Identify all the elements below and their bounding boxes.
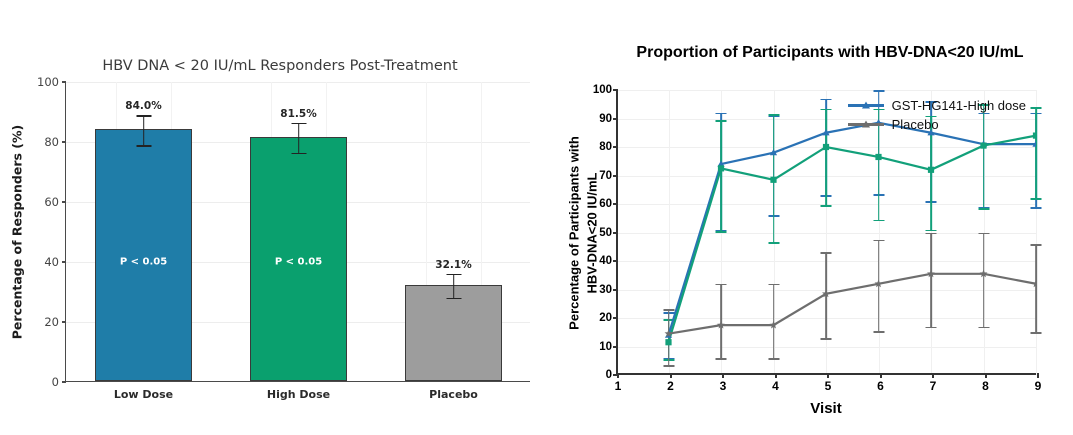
line-chart-y-tick-label: 20 xyxy=(599,312,612,324)
line-chart-y-tick-label: 80 xyxy=(599,141,612,153)
line-chart-x-tick-mark xyxy=(775,373,777,378)
line-chart-axes: 0102030405060708090100123456789 xyxy=(616,90,1036,375)
line-chart-y-axis-label-line1: Percentage of Participants with xyxy=(567,123,582,343)
line-chart-y-axis-label-line2: HBV-DNA<20 IU/mL xyxy=(585,123,600,343)
figure-root: HBV DNA < 20 IU/mL Responders Post-Treat… xyxy=(0,0,1073,435)
line-chart-x-tick-label: 5 xyxy=(825,379,832,393)
line-chart-y-tick-mark xyxy=(613,203,618,205)
line-chart-y-tick-label: 90 xyxy=(599,113,612,125)
bar-chart-y-axis-label-text: Percentage of Responders (%) xyxy=(10,125,25,339)
bar-chart-y-tick-mark xyxy=(62,141,66,142)
bar-chart-error-cap xyxy=(136,145,151,147)
bar-chart-y-tick-mark xyxy=(62,321,66,322)
line-chart-y-tick-label: 10 xyxy=(599,341,612,353)
line-chart-title: Proportion of Participants with HBV-DNA<… xyxy=(585,44,1073,62)
bar-chart-gridline xyxy=(66,82,530,83)
line-chart-x-tick-label: 6 xyxy=(877,379,884,393)
bar-chart-error-bar xyxy=(143,115,145,145)
bar-chart-y-tick-label: 40 xyxy=(44,255,59,269)
bar-chart-x-tick-label: Placebo xyxy=(429,388,478,401)
bar-chart-y-tick-label: 80 xyxy=(44,135,59,149)
bar-chart-y-axis-label: Percentage of Responders (%) xyxy=(8,82,26,382)
bar-chart-pvalue-annotation: P < 0.05 xyxy=(120,257,167,268)
line-chart-y-tick-mark xyxy=(613,175,618,177)
line-chart-x-axis-label: Visit xyxy=(616,400,1036,417)
line-chart-x-tick-mark xyxy=(722,373,724,378)
line-chart-y-tick-mark xyxy=(613,89,618,91)
bar-chart-plot-area: 02040608010084.0%P < 0.05Low Dose81.5%P … xyxy=(65,82,530,382)
line-chart-x-tick-mark xyxy=(670,373,672,378)
bar-chart-error-bar xyxy=(453,274,455,298)
line-chart-y-tick-label: 50 xyxy=(599,227,612,239)
line-chart-y-tick-label: 70 xyxy=(599,170,612,182)
line-chart-x-tick-label: 2 xyxy=(667,379,674,393)
bar-chart-x-tick-label: Low Dose xyxy=(114,388,173,401)
bar-chart-y-tick-mark xyxy=(62,201,66,202)
line-chart-x-tick-mark xyxy=(617,373,619,378)
line-chart-y-tick-mark xyxy=(613,118,618,120)
line-chart-panel: Proportion of Participants with HBV-DNA<… xyxy=(540,0,1073,435)
bar-chart-error-cap xyxy=(446,274,461,276)
bar-chart-error-bar xyxy=(298,123,300,153)
bar-chart-y-tick-mark xyxy=(62,261,66,262)
line-chart-x-tick-label: 9 xyxy=(1035,379,1042,393)
line-chart-y-tick-mark xyxy=(613,346,618,348)
bar-chart-y-tick-label: 100 xyxy=(37,75,59,89)
line-chart-y-tick-label: 40 xyxy=(599,255,612,267)
line-chart-y-tick-label: 60 xyxy=(599,198,612,210)
line-chart-x-tick-mark xyxy=(827,373,829,378)
bar-chart-error-cap xyxy=(291,153,306,155)
line-chart-y-tick-mark xyxy=(613,146,618,148)
line-chart-y-tick-label: 30 xyxy=(599,284,612,296)
bar-chart-title: HBV DNA < 20 IU/mL Responders Post-Treat… xyxy=(0,58,560,74)
bar-chart-error-cap xyxy=(446,298,461,300)
line-chart-x-tick-mark xyxy=(932,373,934,378)
line-chart-x-tick-mark xyxy=(880,373,882,378)
bar-chart-y-tick-mark xyxy=(62,381,66,382)
line-chart-y-tick-mark xyxy=(613,260,618,262)
line-chart-x-tick-label: 1 xyxy=(615,379,622,393)
line-chart-y-tick-label: 0 xyxy=(606,369,612,381)
bar-chart-y-tick-label: 20 xyxy=(44,315,59,329)
line-chart-x-tick-label: 8 xyxy=(982,379,989,393)
line-chart-y-tick-label: 100 xyxy=(593,84,612,96)
bar-chart-error-cap xyxy=(136,115,151,117)
bar-chart-y-tick-label: 0 xyxy=(52,375,59,389)
line-chart-y-tick-mark xyxy=(613,317,618,319)
line-chart-x-tick-mark xyxy=(985,373,987,378)
bar-chart-pvalue-annotation: P < 0.05 xyxy=(275,257,322,268)
line-chart-x-tick-label: 7 xyxy=(930,379,937,393)
line-chart-y-axis-label: Percentage of Participants with HBV-DNA<… xyxy=(544,90,606,375)
bar-chart-panel: HBV DNA < 20 IU/mL Responders Post-Treat… xyxy=(0,0,560,435)
bar-chart-value-label: 81.5% xyxy=(280,108,316,120)
bar-chart-bar[interactable] xyxy=(95,129,191,381)
line-chart-x-tick-mark xyxy=(1037,373,1039,378)
bar-chart-value-label: 84.0% xyxy=(125,100,161,112)
line-chart-x-tick-label: 3 xyxy=(720,379,727,393)
line-chart-y-tick-mark xyxy=(613,232,618,234)
bar-chart-x-tick-label: High Dose xyxy=(267,388,330,401)
bar-chart-y-tick-label: 60 xyxy=(44,195,59,209)
bar-chart-y-tick-mark xyxy=(62,81,66,82)
bar-chart-value-label: 32.1% xyxy=(435,259,471,271)
bar-chart-error-cap xyxy=(291,123,306,125)
line-chart-x-tick-label: 4 xyxy=(772,379,779,393)
line-chart-y-tick-mark xyxy=(613,289,618,291)
